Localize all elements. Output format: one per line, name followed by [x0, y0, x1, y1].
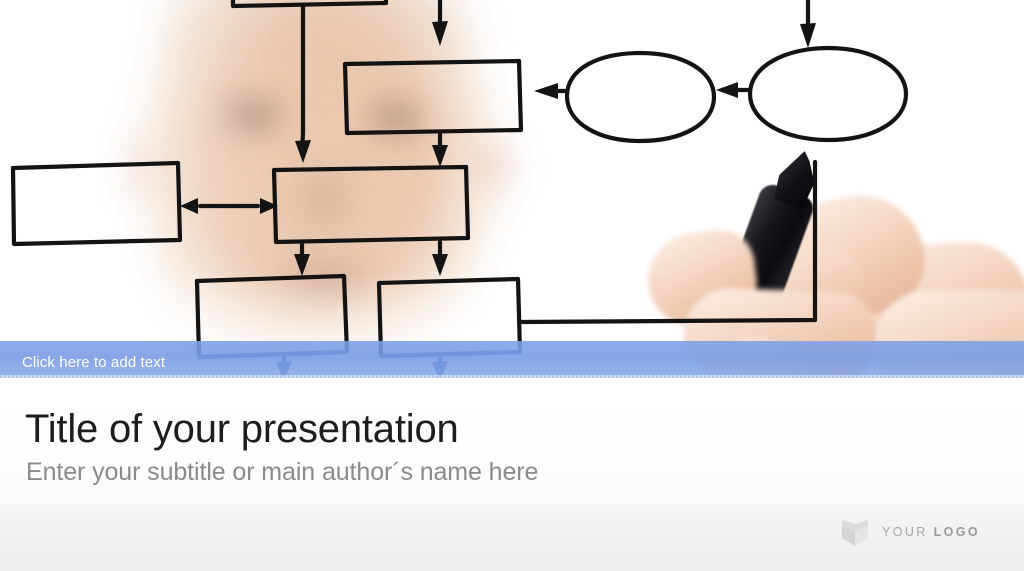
slide-footer: YOUR LOGO	[0, 503, 1024, 571]
arrow-head-down	[294, 254, 310, 276]
arrow-head-down	[295, 140, 311, 163]
arrow-head-down	[432, 145, 448, 167]
whiteboard-flowchart	[0, 0, 1024, 380]
shield-logo-icon	[841, 517, 869, 547]
arrow-head-left	[534, 83, 558, 99]
whiteboard-photo	[0, 0, 1024, 380]
flow-box-2	[345, 61, 521, 133]
logo[interactable]: YOUR LOGO	[841, 517, 980, 547]
presentation-title[interactable]: Title of your presentation	[25, 408, 459, 450]
logo-text-light: YOUR	[882, 525, 928, 539]
arrow-head-left	[716, 82, 738, 98]
flow-box-4	[274, 167, 468, 242]
presentation-slide: Click here to add text Title of your pre…	[0, 0, 1024, 571]
arrow-head-left	[180, 198, 198, 214]
logo-text-bold: LOGO	[934, 525, 980, 539]
flow-box-3	[13, 163, 180, 244]
arrow-head-down	[800, 23, 816, 48]
click-here-to-add-text-placeholder[interactable]: Click here to add text	[22, 354, 165, 371]
flow-connector	[302, 6, 303, 152]
flow-long-connector	[520, 162, 815, 322]
flow-box-top	[233, 0, 386, 6]
flow-ellipse-2	[750, 48, 906, 140]
hero-photo-area	[0, 0, 1024, 380]
logo-text: YOUR LOGO	[882, 525, 980, 539]
title-block: Title of your presentation Enter your su…	[0, 378, 1024, 503]
presentation-subtitle[interactable]: Enter your subtitle or main author´s nam…	[26, 459, 538, 487]
flow-ellipse-1	[567, 53, 714, 141]
arrow-head-down	[432, 21, 448, 46]
arrow-head-down	[432, 254, 448, 276]
